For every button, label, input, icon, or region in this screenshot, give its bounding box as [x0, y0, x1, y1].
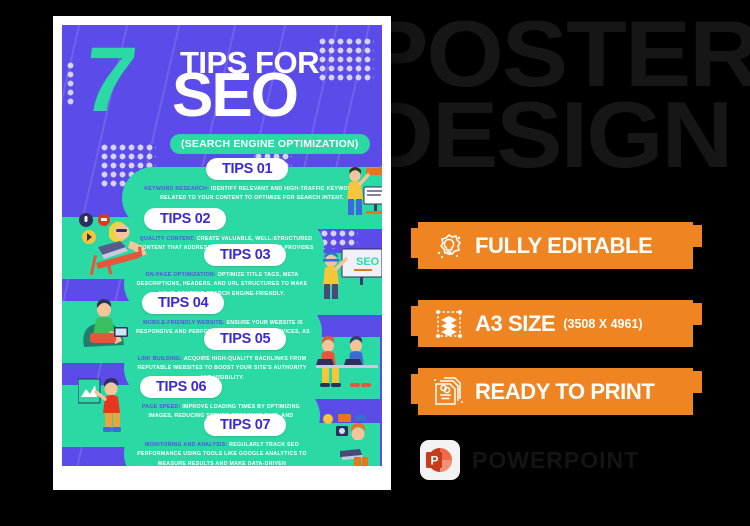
tip-label: TIPS 04	[142, 292, 224, 314]
tip-keyword: MONITORING AND ANALYSIS:	[145, 442, 227, 448]
poster-artwork: 7 TIPS FOR SEO (SEARCH ENGINE OPTIMIZATI…	[62, 25, 382, 466]
poster-page: 7 TIPS FOR SEO (SEARCH ENGINE OPTIMIZATI…	[53, 16, 391, 490]
feature-badge-ready-to-print[interactable]: READY TO PRINT	[418, 368, 693, 415]
feature-badge-a3-size[interactable]: A3 SIZE (3508 X 4961)	[418, 300, 693, 347]
poster-title-main: SEO	[172, 65, 297, 127]
poster-subtitle: (SEARCH ENGINE OPTIMIZATION)	[170, 134, 370, 154]
poster-title-block: 7 TIPS FOR SEO (SEARCH ENGINE OPTIMIZATI…	[62, 33, 382, 163]
tip-keyword: LINK BUILDING:	[138, 356, 183, 362]
gear-lightbulb-icon	[432, 229, 466, 263]
feature-badge-fully-editable[interactable]: FULLY EDITABLE	[418, 222, 693, 269]
badge-label: FULLY EDITABLE	[475, 233, 652, 259]
badge-label: A3 SIZE	[475, 311, 555, 337]
background-wordmark-line-1: POSTER	[362, 14, 750, 95]
tip-body: MONITORING AND ANALYSIS: REGULARLY TRACK…	[134, 441, 310, 466]
badge-label: READY TO PRINT	[475, 379, 654, 405]
background-wordmark-line-2: DESIGN	[362, 95, 750, 176]
tip-keyword: PAGE SPEED:	[142, 404, 181, 410]
tip-body: KEYWORD RESEARCH: IDENTIFY RELEVANT AND …	[134, 185, 370, 204]
print-documents-icon	[432, 375, 466, 409]
background-wordmark: POSTER DESIGN	[362, 14, 750, 229]
tip-label: TIPS 07	[204, 414, 286, 436]
tip-label: TIPS 06	[140, 376, 222, 398]
tip-label: TIPS 05	[204, 328, 286, 350]
badge-sublabel: (3508 X 4961)	[563, 317, 642, 331]
tip-keyword: ON-PAGE OPTIMIZATION:	[146, 272, 216, 278]
illustration-team-desk	[314, 335, 380, 391]
svg-text:SEO: SEO	[356, 256, 380, 268]
artboard-layers-icon	[432, 307, 466, 341]
powerpoint-icon: P	[420, 440, 460, 480]
tip-keyword: MOBILE-FRIENDLY WEBSITE:	[143, 320, 225, 326]
tip-keyword: KEYWORD RESEARCH:	[144, 186, 209, 192]
illustration-analytics	[318, 413, 380, 466]
software-indicator: P POWERPOINT	[420, 440, 639, 480]
tip-label: TIPS 03	[204, 244, 286, 266]
illustration-presenter	[344, 165, 382, 223]
tip-label: TIPS 01	[206, 158, 288, 180]
illustration-whiteboard: SEO	[320, 247, 382, 309]
software-label: POWERPOINT	[472, 447, 639, 474]
poster-number: 7	[79, 39, 136, 122]
poster-preview[interactable]: 7 TIPS FOR SEO (SEARCH ENGINE OPTIMIZATI…	[53, 16, 391, 490]
svg-text:P: P	[431, 454, 439, 468]
